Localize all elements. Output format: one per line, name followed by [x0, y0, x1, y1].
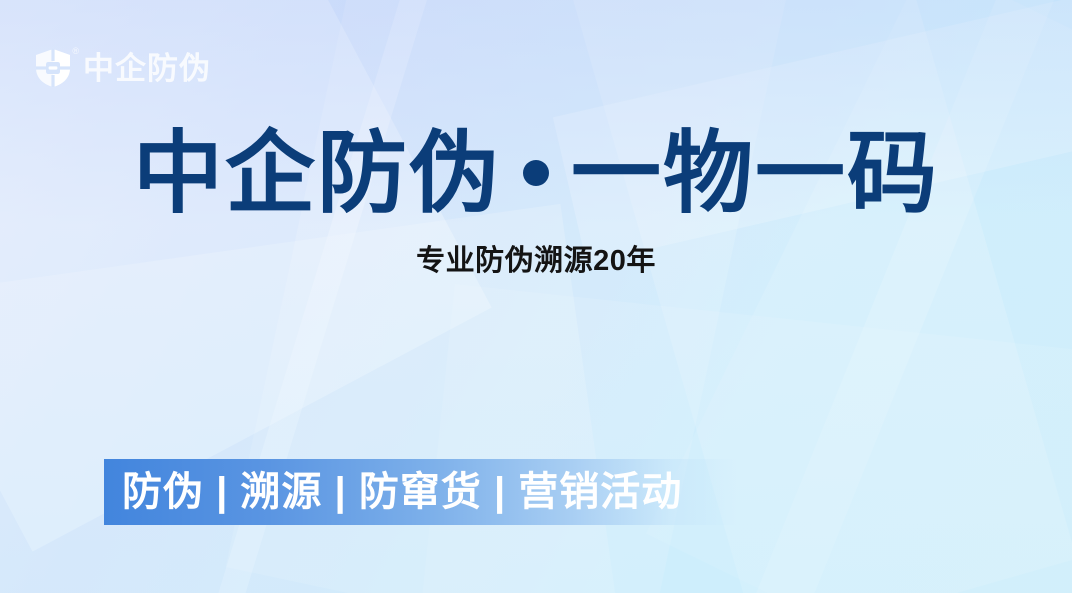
registered-trademark-icon: ® [72, 47, 79, 56]
keyword-banner-text: 防伪 | 溯源 | 防窜货 | 营销活动 [104, 472, 682, 512]
background-facet [410, 284, 1072, 593]
brand-logo: ® 中企防伪 [34, 48, 211, 88]
shield-icon: ® [34, 48, 72, 88]
keyword-banner: 防伪 | 溯源 | 防窜货 | 营销活动 [104, 459, 736, 525]
background-streak [723, 0, 1072, 593]
brand-name: 中企防伪 [83, 53, 211, 84]
title-part-right: 一物一码 [571, 124, 939, 224]
hero-text-block: 中企防伪·一物一码 专业防伪溯源20年 [0, 126, 1072, 276]
title-part-left: 中企防伪 [133, 124, 501, 224]
page-subtitle: 专业防伪溯源20年 [0, 247, 1072, 276]
page-title: 中企防伪·一物一码 [0, 126, 1072, 223]
promotional-poster: ® 中企防伪 中企防伪·一物一码 专业防伪溯源20年 防伪 | 溯源 | 防窜货… [0, 0, 1072, 593]
title-separator-dot: · [523, 160, 549, 186]
